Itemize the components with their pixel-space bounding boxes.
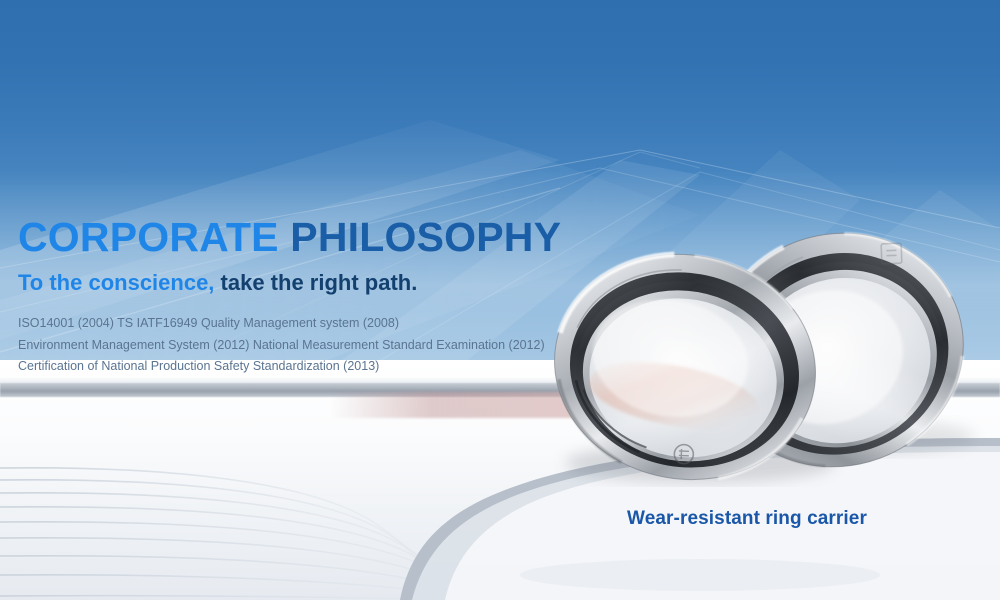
certification-line: Certification of National Production Saf… bbox=[18, 356, 638, 378]
certification-line: ISO14001 (2004) TS IATF16949 Quality Man… bbox=[18, 313, 638, 335]
product-caption: Wear-resistant ring carrier bbox=[627, 508, 867, 530]
page-title-primary: CORPORATE bbox=[18, 214, 279, 260]
certification-list: ISO14001 (2004) TS IATF16949 Quality Man… bbox=[18, 313, 638, 378]
corporate-philosophy-banner: CORPORATE PHILOSOPHY To the conscience, … bbox=[0, 0, 1000, 600]
page-subtitle: To the conscience, take the right path. bbox=[18, 270, 638, 296]
page-subtitle-secondary: take the right path. bbox=[214, 270, 417, 295]
page-subtitle-primary: To the conscience, bbox=[18, 270, 214, 295]
certification-line: Environment Management System (2012) Nat… bbox=[18, 335, 638, 357]
page-title: CORPORATE PHILOSOPHY bbox=[18, 214, 638, 260]
page-title-secondary: PHILOSOPHY bbox=[279, 214, 561, 260]
headline-text-block: CORPORATE PHILOSOPHY To the conscience, … bbox=[18, 214, 638, 378]
